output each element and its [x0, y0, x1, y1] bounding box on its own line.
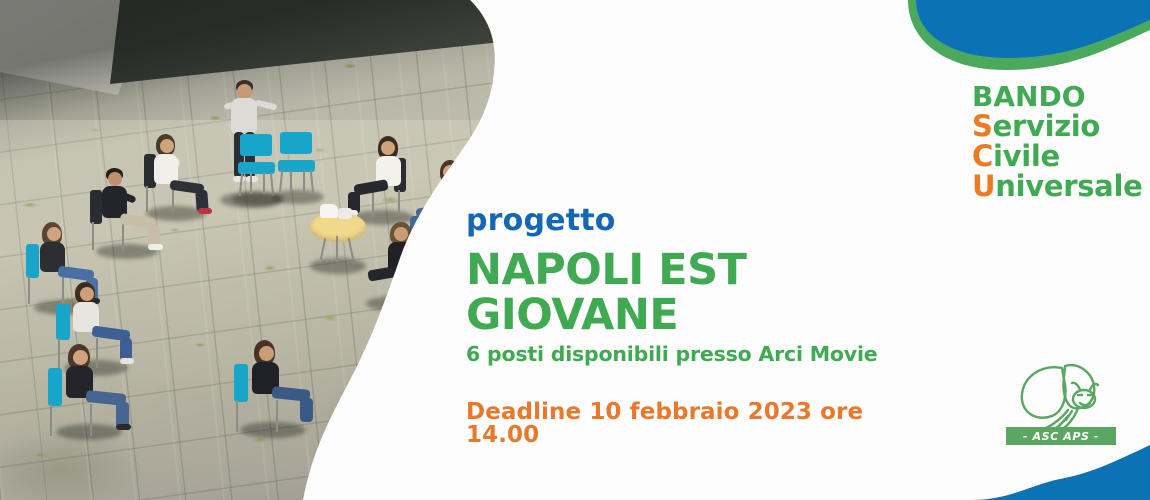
page-title: NAPOLI EST GIOVANE	[466, 248, 936, 338]
bando-line-1: Servizio	[972, 111, 1147, 141]
text-block: progetto NAPOLI EST GIOVANE 6 posti disp…	[466, 206, 936, 447]
courtyard-photo	[0, 0, 520, 500]
bando-line-3: Universale	[972, 171, 1147, 201]
deadline-text: Deadline 10 febbraio 2023 ore 14.00	[466, 401, 936, 447]
decorative-wave-top	[890, 0, 1150, 80]
bando-line-0: BANDO	[972, 82, 1147, 111]
bando-line-3-rest: niversale	[995, 169, 1142, 203]
poster-canvas: progetto NAPOLI EST GIOVANE 6 posti disp…	[0, 0, 1150, 500]
kicker-progetto: progetto	[466, 206, 936, 236]
asc-aps-label: - ASC APS -	[1023, 430, 1099, 443]
bando-line-2: Civile	[972, 141, 1147, 171]
bando-line-0-rest: BANDO	[972, 80, 1086, 113]
subtitle-posts: 6 posti disponibili presso Arci Movie	[466, 343, 936, 366]
bando-line-2-cap: C	[972, 139, 993, 173]
asc-aps-banner: - ASC APS -	[1006, 427, 1116, 445]
bando-line-1-cap: S	[972, 109, 993, 143]
decorative-wave-bottom	[970, 445, 1150, 500]
bando-line-2-rest: ivile	[993, 139, 1060, 173]
bando-line-3-cap: U	[972, 169, 995, 203]
bando-heading: BANDO Servizio Civile Universale	[972, 82, 1147, 202]
bando-line-1-rest: ervizio	[993, 109, 1100, 143]
